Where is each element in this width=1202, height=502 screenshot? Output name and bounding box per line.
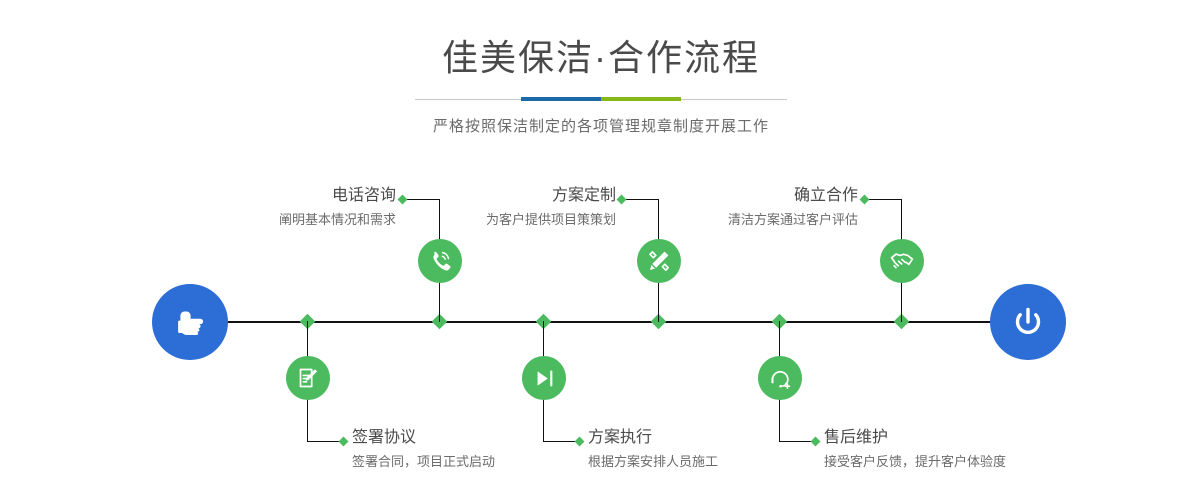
connector-tip-3 (617, 195, 627, 205)
timeline-end-node[interactable] (990, 284, 1066, 360)
step-label-6: 售后维护 接受客户反馈，提升客户体验度 (824, 428, 1006, 471)
step-title-5: 确立合作 (660, 186, 858, 206)
step-icon-1[interactable] (418, 239, 462, 283)
play-execute-icon (532, 366, 557, 391)
handshake-icon (889, 248, 915, 274)
connector-tip-4 (575, 437, 585, 447)
power-button-icon (1007, 301, 1049, 343)
flow-diagram-page: 佳美保洁·合作流程 严格按照保洁制定的各项管理规章制度开展工作 (0, 0, 1202, 502)
step-title-2: 签署协议 (352, 428, 495, 448)
pencil-ruler-icon (646, 248, 672, 274)
process-timeline: 电话咨询 阐明基本情况和需求 (0, 0, 1202, 502)
step-desc-3: 为客户提供项目策策划 (420, 211, 616, 229)
step-label-3: 方案定制 为客户提供项目策策划 (420, 186, 616, 229)
connector-hline-3 (622, 199, 659, 200)
step-icon-6[interactable] (758, 356, 802, 400)
step-title-6: 售后维护 (824, 428, 1006, 448)
connector-hline-5 (865, 199, 902, 200)
step-title-4: 方案执行 (588, 428, 718, 448)
headset-support-icon (768, 366, 793, 391)
document-edit-icon (296, 366, 321, 391)
step-label-5: 确立合作 清洁方案通过客户评估 (660, 186, 858, 229)
step-desc-1: 阐明基本情况和需求 (200, 211, 396, 229)
step-desc-5: 清洁方案通过客户评估 (660, 211, 858, 229)
phone-call-icon (427, 248, 453, 274)
step-title-1: 电话咨询 (200, 186, 396, 206)
connector-tip-5 (860, 195, 870, 205)
step-icon-4[interactable] (522, 356, 566, 400)
step-icon-5[interactable] (880, 239, 924, 283)
step-desc-6: 接受客户反馈，提升客户体验度 (824, 453, 1006, 471)
step-desc-4: 根据方案安排人员施工 (588, 453, 718, 471)
step-label-2: 签署协议 签署合同，项目正式启动 (352, 428, 495, 471)
step-label-4: 方案执行 根据方案安排人员施工 (588, 428, 718, 471)
pointing-hand-icon (170, 302, 210, 342)
connector-tip-1 (398, 195, 408, 205)
step-title-3: 方案定制 (420, 186, 616, 206)
connector-tip-2 (339, 437, 349, 447)
step-icon-2[interactable] (286, 356, 330, 400)
timeline-start-node[interactable] (152, 284, 228, 360)
step-label-1: 电话咨询 阐明基本情况和需求 (200, 186, 396, 229)
step-icon-3[interactable] (637, 239, 681, 283)
connector-tip-6 (811, 437, 821, 447)
step-desc-2: 签署合同，项目正式启动 (352, 453, 495, 471)
